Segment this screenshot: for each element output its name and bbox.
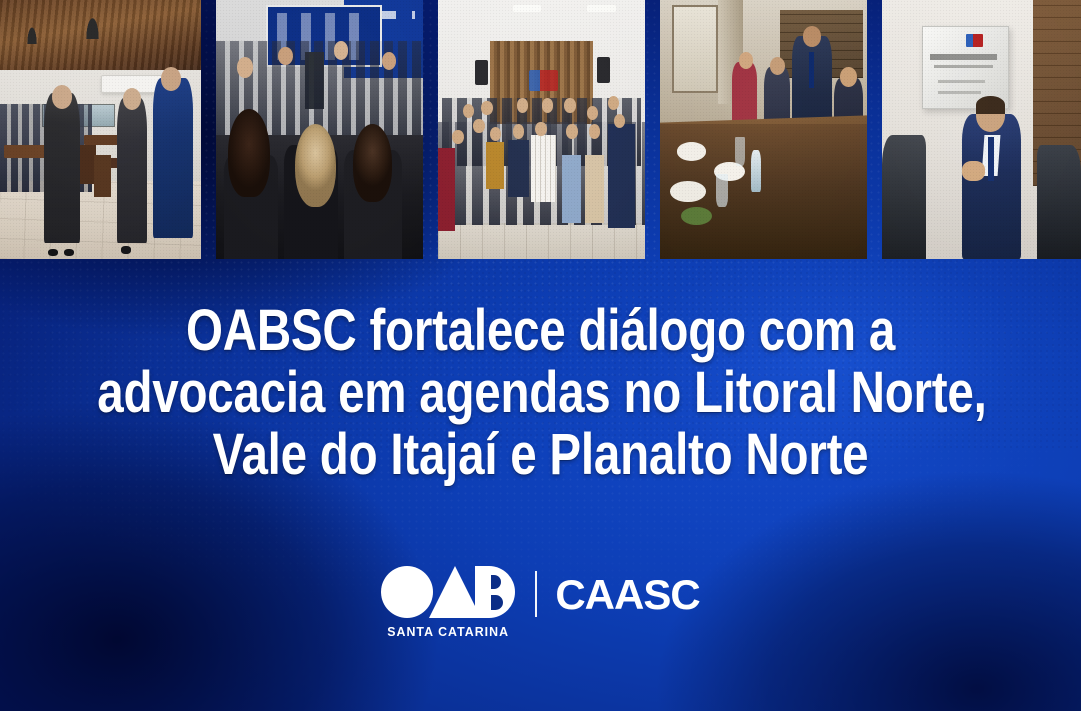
oab-letter-a-icon <box>429 566 481 618</box>
photo-2 <box>216 0 423 259</box>
caasc-wordmark: CAASC <box>555 571 699 619</box>
photo-1-grain <box>0 0 201 259</box>
logo-lockup: SANTA CATARINA CAASC <box>0 566 1081 639</box>
headline: OABSC fortalece diálogo com a advocacia … <box>97 300 983 486</box>
photo-4 <box>660 0 867 259</box>
photo-strip <box>0 0 1081 259</box>
oab-letter-b-icon <box>475 566 515 618</box>
photo-5 <box>882 0 1081 259</box>
logo-divider <box>535 571 537 617</box>
photo-1 <box>0 0 201 259</box>
headline-line-2: advocacia em agendas no Litoral Norte, <box>97 362 983 424</box>
photo-5-grain <box>882 0 1081 259</box>
headline-line-3: Vale do Itajaí e Planalto Norte <box>97 424 983 486</box>
oab-wordmark-glyphs <box>381 566 515 618</box>
headline-line-1: OABSC fortalece diálogo com a <box>97 300 983 362</box>
banner-root: OABSC fortalece diálogo com a advocacia … <box>0 0 1081 711</box>
photo-3 <box>438 0 645 259</box>
oab-letter-o-icon <box>381 566 433 618</box>
photo-4-grain <box>660 0 867 259</box>
oab-logo: SANTA CATARINA <box>381 566 515 639</box>
photo-2-grain <box>216 0 423 259</box>
photo-3-grain <box>438 0 645 259</box>
oab-subtitle: SANTA CATARINA <box>387 624 509 639</box>
